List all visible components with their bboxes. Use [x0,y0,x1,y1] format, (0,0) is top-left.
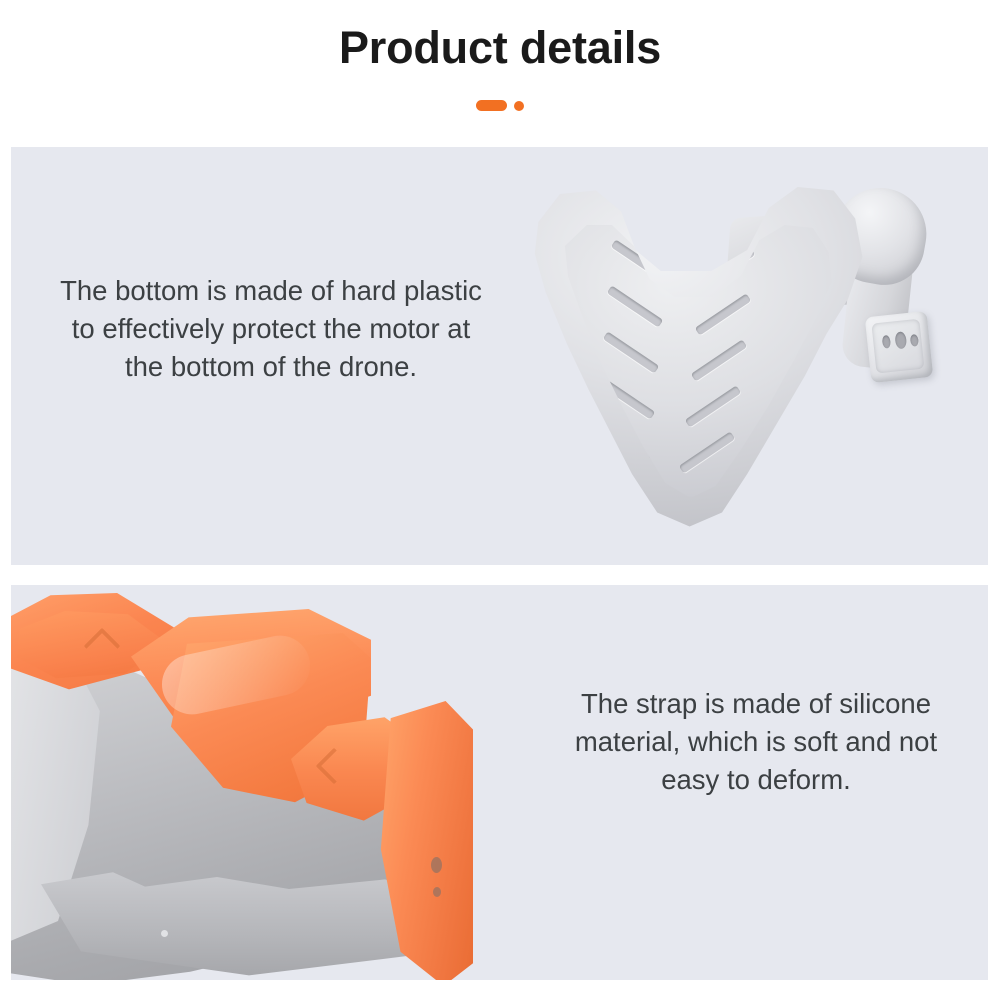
strap-hole-icon [431,857,442,873]
base-screw-dot-icon [161,930,168,937]
strap-hole-icon [433,887,441,897]
page-header: Product details [0,0,1000,147]
panel-bottom-plastic: The bottom is made of hard plastic to ef… [11,147,988,565]
panel-silicone-strap-description: The strap is made of silicone material, … [556,685,956,799]
product-details-page: Product details The bottom is made of ha… [0,0,1000,1000]
page-title: Product details [0,22,1000,74]
panel-silicone-strap: The strap is made of silicone material, … [11,585,988,980]
chevron-groove [685,385,741,427]
chevron-groove [607,285,663,327]
silicone-strap-illustration [11,585,511,980]
slide-indicator-active-pill-icon[interactable] [476,100,507,111]
guard-side-clip [865,311,934,383]
slide-indicator-dot-icon[interactable] [514,101,524,111]
slide-indicator [0,100,1000,111]
chevron-groove [603,331,659,373]
chevron-groove [691,339,747,381]
panel-bottom-plastic-description: The bottom is made of hard plastic to ef… [56,272,486,386]
chevron-groove [695,293,751,335]
chevron-groove [679,431,735,473]
drone-guard-illustration [516,172,966,542]
